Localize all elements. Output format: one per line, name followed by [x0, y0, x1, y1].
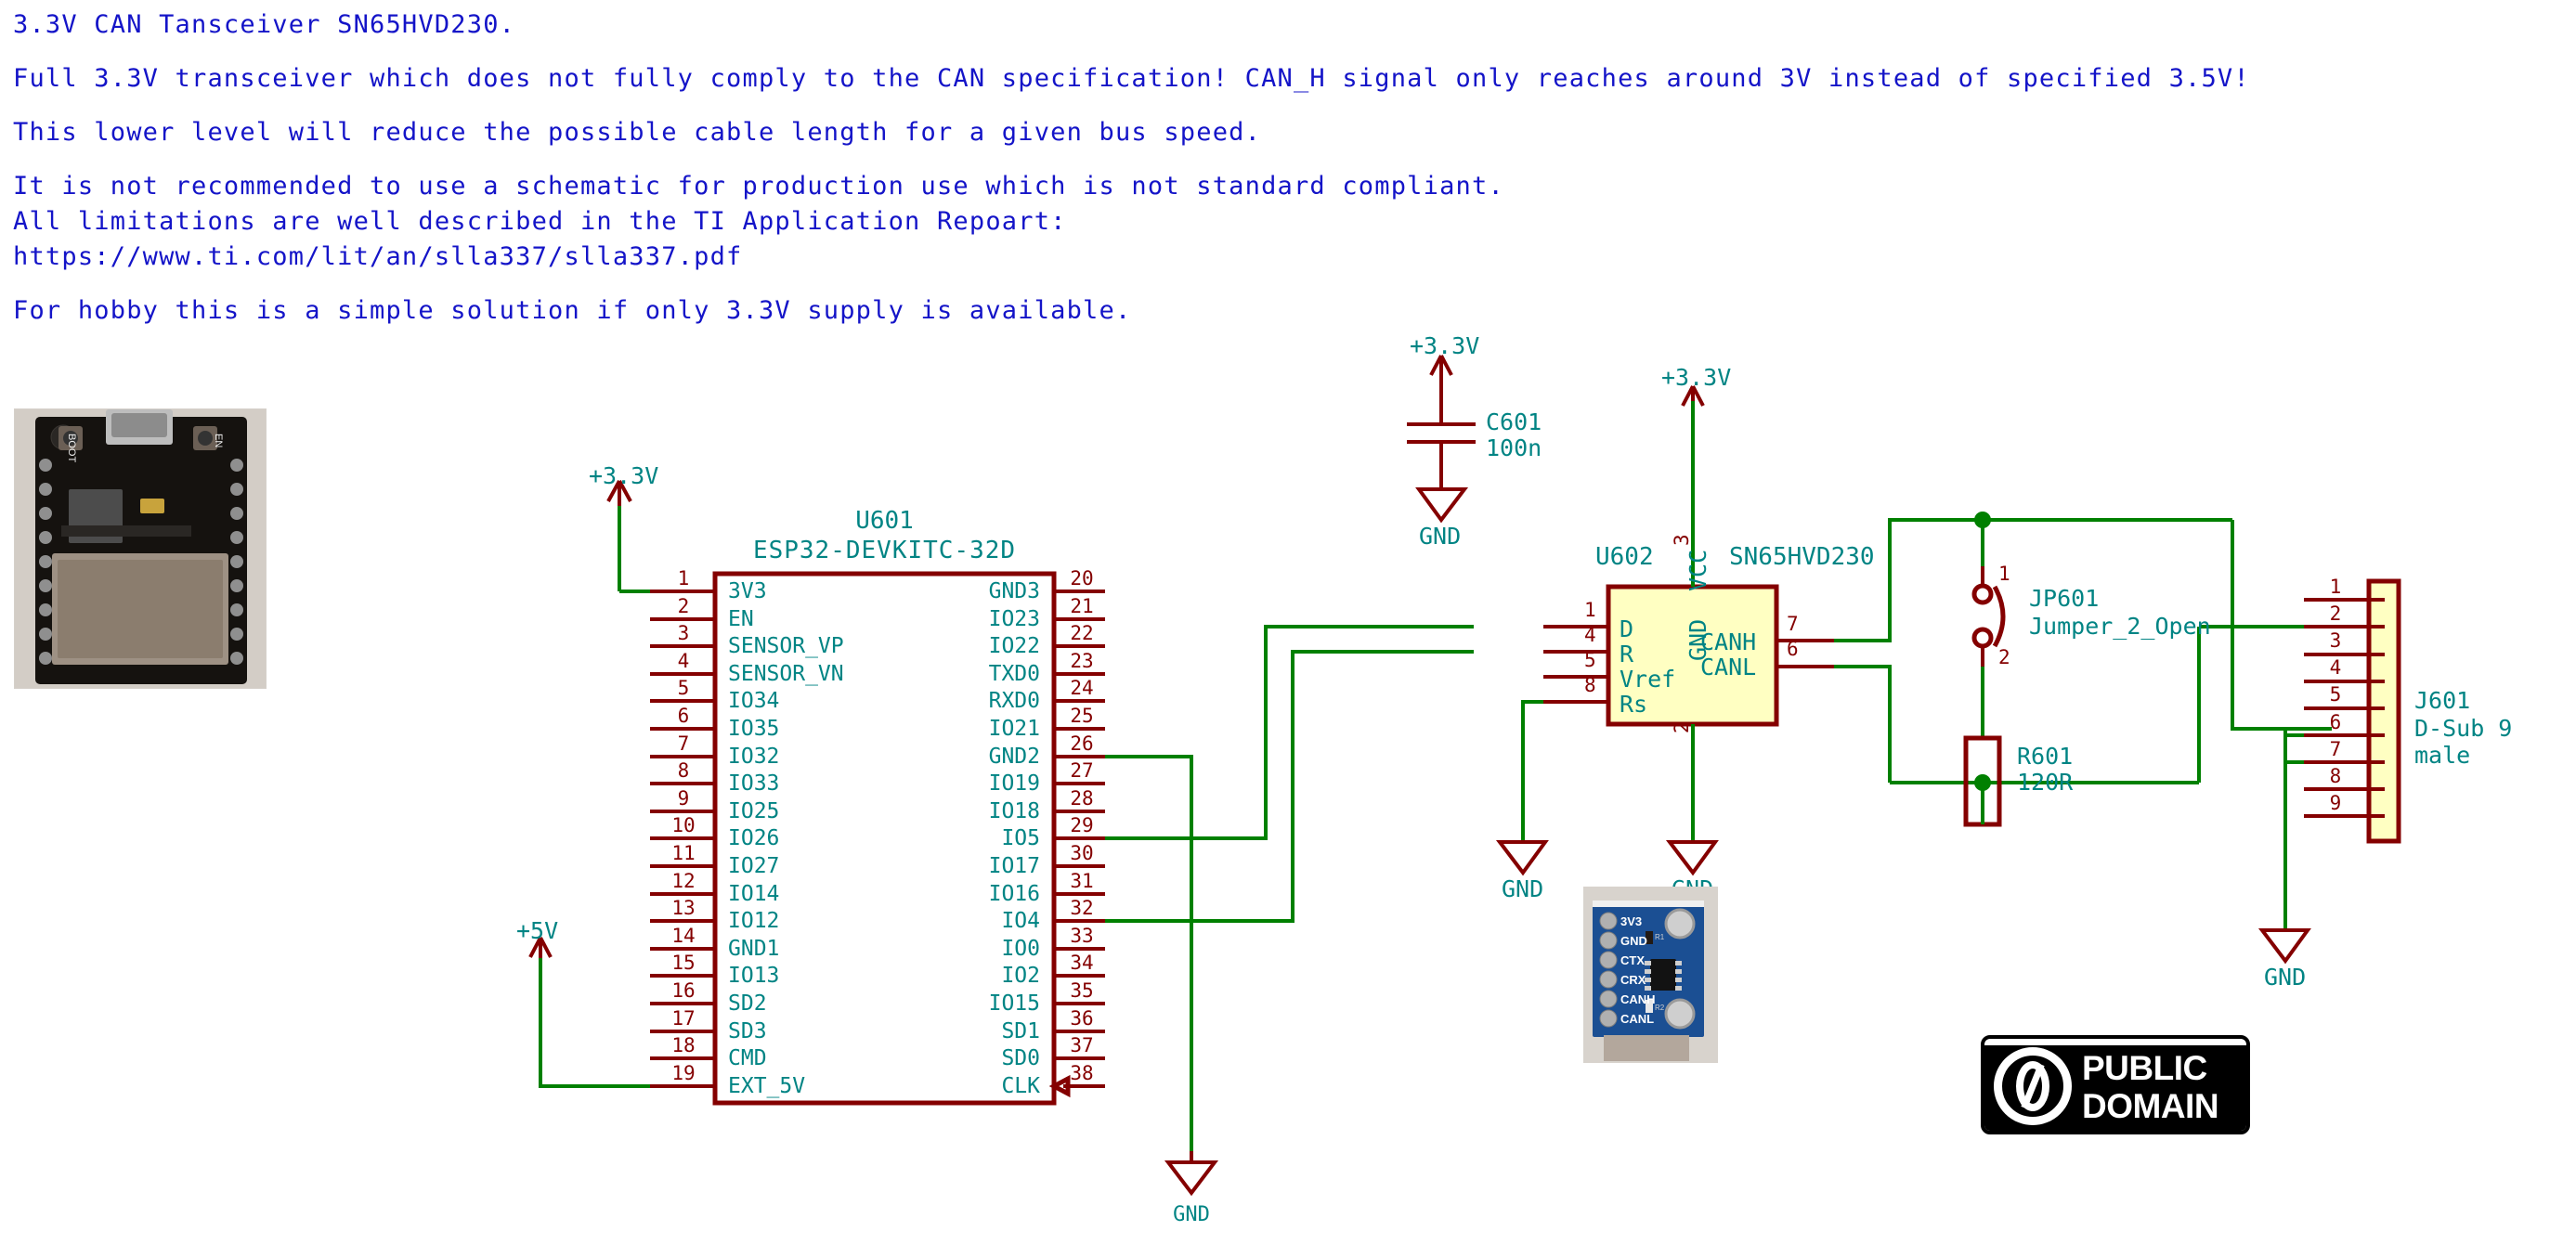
- u601-pin-name-IO21: IO21: [929, 717, 1040, 741]
- u601-pin-num-36: 36: [1059, 1007, 1105, 1030]
- u601-pin-num-4: 4: [656, 650, 711, 672]
- svg-text:CANH: CANH: [1620, 992, 1656, 1006]
- j601-pin-num-1: 1: [2312, 576, 2359, 598]
- u601-pin-num-18: 18: [656, 1034, 711, 1056]
- u601-pin-name-GND3: GND3: [929, 579, 1040, 603]
- power-label-u602-3v3: +3.3V: [1661, 364, 1731, 391]
- u601-pin-num-5: 5: [656, 677, 711, 699]
- gnd-label-c601: GND: [1419, 523, 1461, 550]
- u601-pin-name-IO19: IO19: [929, 771, 1040, 796]
- u601-pin-name-RXD0: RXD0: [929, 689, 1040, 713]
- public-domain-line1: PUBLIC: [2082, 1049, 2218, 1087]
- r601-ref: R601: [2017, 743, 2073, 770]
- j601-pin-num-4: 4: [2312, 656, 2359, 679]
- u601-pin-num-13: 13: [656, 897, 711, 919]
- u601-pin-num-31: 31: [1059, 870, 1105, 892]
- u601-pin-name-IO22: IO22: [929, 634, 1040, 658]
- u601-pin-name-IO17: IO17: [929, 854, 1040, 878]
- u601-pin-name-SD2: SD2: [728, 991, 767, 1016]
- u601-pin-name-IO27: IO27: [728, 854, 779, 878]
- u601-pin-num-8: 8: [656, 759, 711, 782]
- u601-pin-num-14: 14: [656, 925, 711, 947]
- u601-pin-name-IO13: IO13: [728, 964, 779, 988]
- u601-pin-name-IO33: IO33: [728, 771, 779, 796]
- public-domain-text: PUBLIC DOMAIN: [2082, 1049, 2218, 1125]
- u601-pin-num-9: 9: [656, 787, 711, 810]
- u601-pin-name-IO12: IO12: [728, 909, 779, 933]
- u601-pin-name-SD0: SD0: [929, 1046, 1040, 1070]
- u601-value: ESP32-DEVKITC-32D: [715, 537, 1054, 564]
- u601-pin-num-35: 35: [1059, 979, 1105, 1002]
- u601-pin-name-TXD0: TXD0: [929, 662, 1040, 686]
- jp601-value: Jumper_2_Open: [2029, 613, 2211, 640]
- j601-pin-num-9: 9: [2312, 792, 2359, 814]
- u602-num-4: 4: [1584, 624, 1596, 646]
- u601-pin-name-IO16: IO16: [929, 882, 1040, 906]
- u601-pin-num-38: 38: [1059, 1062, 1105, 1084]
- u602-num-6: 6: [1787, 638, 1799, 660]
- u602-pin-R: R: [1620, 641, 1633, 667]
- u601-pin-num-29: 29: [1059, 814, 1105, 836]
- esp32-devkit-photo: BOOT EN: [14, 408, 267, 689]
- u602-pin-Vref: Vref: [1620, 666, 1675, 693]
- u601-pin-num-26: 26: [1059, 732, 1105, 755]
- svg-text:CRX: CRX: [1620, 973, 1646, 987]
- j601-pin-num-2: 2: [2312, 603, 2359, 625]
- jp601-ref: JP601: [2029, 585, 2099, 612]
- u601-pin-num-33: 33: [1059, 925, 1105, 947]
- u601-pin-num-25: 25: [1059, 705, 1105, 727]
- u601-pin-num-1: 1: [656, 567, 711, 590]
- u601-pin-name-IO5: IO5: [929, 826, 1040, 850]
- u601-pin-num-11: 11: [656, 842, 711, 864]
- u601-pin-num-23: 23: [1059, 650, 1105, 672]
- u601-pin-name-IO4: IO4: [929, 909, 1040, 933]
- svg-text:EN: EN: [213, 434, 224, 447]
- u601-pin-num-27: 27: [1059, 759, 1105, 782]
- j601-pin-num-3: 3: [2312, 629, 2359, 652]
- j601-pin-num-5: 5: [2312, 683, 2359, 706]
- u601-ref: U601: [715, 507, 1054, 535]
- u601-pin-name-CMD: CMD: [728, 1046, 767, 1070]
- u601-pin-name-SD1: SD1: [929, 1019, 1040, 1043]
- u601-pin-num-34: 34: [1059, 952, 1105, 974]
- j601-value: D-Sub 9 male: [2414, 715, 2576, 769]
- u601-pin-num-7: 7: [656, 732, 711, 755]
- u602-num-7: 7: [1787, 613, 1799, 635]
- u601-pin-name-SENSOR_VP: SENSOR_VP: [728, 634, 844, 658]
- u601-pin-name-CLK: CLK: [929, 1074, 1040, 1098]
- u602-num-8: 8: [1584, 674, 1596, 696]
- u601-pin-num-37: 37: [1059, 1034, 1105, 1056]
- u601-pin-name-IO26: IO26: [728, 826, 779, 850]
- u602-num-5: 5: [1584, 649, 1596, 671]
- sn65hvd230-module-photo: 3V3GNDCTX CRXCANHCANL R1R2: [1583, 887, 1718, 1063]
- u601-pin-num-3: 3: [656, 622, 711, 644]
- j601-pin-num-6: 6: [2312, 711, 2359, 733]
- public-domain-line2: DOMAIN: [2082, 1087, 2218, 1125]
- public-domain-badge: PUBLIC DOMAIN: [1981, 1035, 2250, 1134]
- u601-pin-num-21: 21: [1059, 595, 1105, 617]
- u601-pin-name-EN: EN: [728, 607, 754, 631]
- u601-pin-name-IO25: IO25: [728, 799, 779, 823]
- c601-value: 100n: [1486, 434, 1542, 461]
- u601-pin-num-28: 28: [1059, 787, 1105, 810]
- u601-pin-name-IO18: IO18: [929, 799, 1040, 823]
- u601-pin-name-IO35: IO35: [728, 717, 779, 741]
- u601-pin-num-30: 30: [1059, 842, 1105, 864]
- u602-pin-D: D: [1620, 616, 1633, 642]
- u602-ref: U602: [1595, 543, 1654, 571]
- u602-pin-Rs: Rs: [1620, 691, 1647, 718]
- svg-text:CANL: CANL: [1620, 1012, 1654, 1026]
- u601-pin-num-22: 22: [1059, 622, 1105, 644]
- u601-pin-num-6: 6: [656, 705, 711, 727]
- u601-pin-name-GND1: GND1: [728, 937, 779, 961]
- u601-pin-name-IO2: IO2: [929, 964, 1040, 988]
- gnd-label-dsub: GND: [2264, 964, 2306, 991]
- u601-pin-name-3V3: 3V3: [728, 579, 767, 603]
- u601-pin-name-IO34: IO34: [728, 689, 779, 713]
- u601-pin-name-SENSOR_VN: SENSOR_VN: [728, 662, 844, 686]
- u601-pin-num-32: 32: [1059, 897, 1105, 919]
- power-label-esp-3v3: +3.3V: [589, 462, 658, 489]
- u601-pin-num-17: 17: [656, 1007, 711, 1030]
- u601-pin-name-SD3: SD3: [728, 1019, 767, 1043]
- u602-num-1: 1: [1584, 599, 1596, 621]
- u601-pin-name-IO23: IO23: [929, 607, 1040, 631]
- u602-num-2: 2: [1671, 721, 1693, 733]
- svg-text:R2: R2: [1655, 1004, 1665, 1012]
- svg-text:BOOT: BOOT: [66, 434, 77, 462]
- power-label-esp-5v: +5V: [516, 917, 558, 944]
- public-domain-inner: PUBLIC DOMAIN: [1984, 1045, 2246, 1131]
- u602-num-3: 3: [1671, 534, 1693, 546]
- power-label-c601-3v3: +3.3V: [1410, 332, 1479, 359]
- c601-ref: C601: [1486, 408, 1542, 435]
- u602-pin-CANH: CANH: [1700, 628, 1756, 655]
- u602-pin-CANL: CANL: [1700, 654, 1756, 680]
- u601-pin-num-20: 20: [1059, 567, 1105, 590]
- u601-pin-name-GND2: GND2: [929, 745, 1040, 769]
- svg-text:R1: R1: [1655, 933, 1665, 941]
- u601-pin-num-16: 16: [656, 979, 711, 1002]
- gnd-label-rs: GND: [1502, 875, 1543, 902]
- u601-pin-name-EXT_5V: EXT_5V: [728, 1074, 805, 1098]
- svg-text:CTX: CTX: [1620, 953, 1645, 967]
- u601-pin-num-12: 12: [656, 870, 711, 892]
- public-domain-zero-icon: [1994, 1047, 2072, 1125]
- u601-pin-name-IO15: IO15: [929, 991, 1040, 1016]
- u601-pin-num-2: 2: [656, 595, 711, 617]
- u601-pin-num-24: 24: [1059, 677, 1105, 699]
- u601-pin-name-IO32: IO32: [728, 745, 779, 769]
- u602-pin-VCC: VCC: [1685, 550, 1711, 591]
- u601-pin-name-IO14: IO14: [728, 882, 779, 906]
- j601-pin-num-8: 8: [2312, 765, 2359, 787]
- u601-pin-num-15: 15: [656, 952, 711, 974]
- svg-text:GND: GND: [1620, 934, 1647, 948]
- u601-pin-name-IO0: IO0: [929, 937, 1040, 961]
- j601-pin-num-7: 7: [2312, 738, 2359, 760]
- u602-value: SN65HVD230: [1729, 543, 1875, 571]
- r601-value: 120R: [2017, 769, 2073, 796]
- svg-text:3V3: 3V3: [1620, 914, 1642, 928]
- u601-pin-num-19: 19: [656, 1062, 711, 1084]
- j601-ref: J601: [2414, 687, 2470, 714]
- u601-pin-num-10: 10: [656, 814, 711, 836]
